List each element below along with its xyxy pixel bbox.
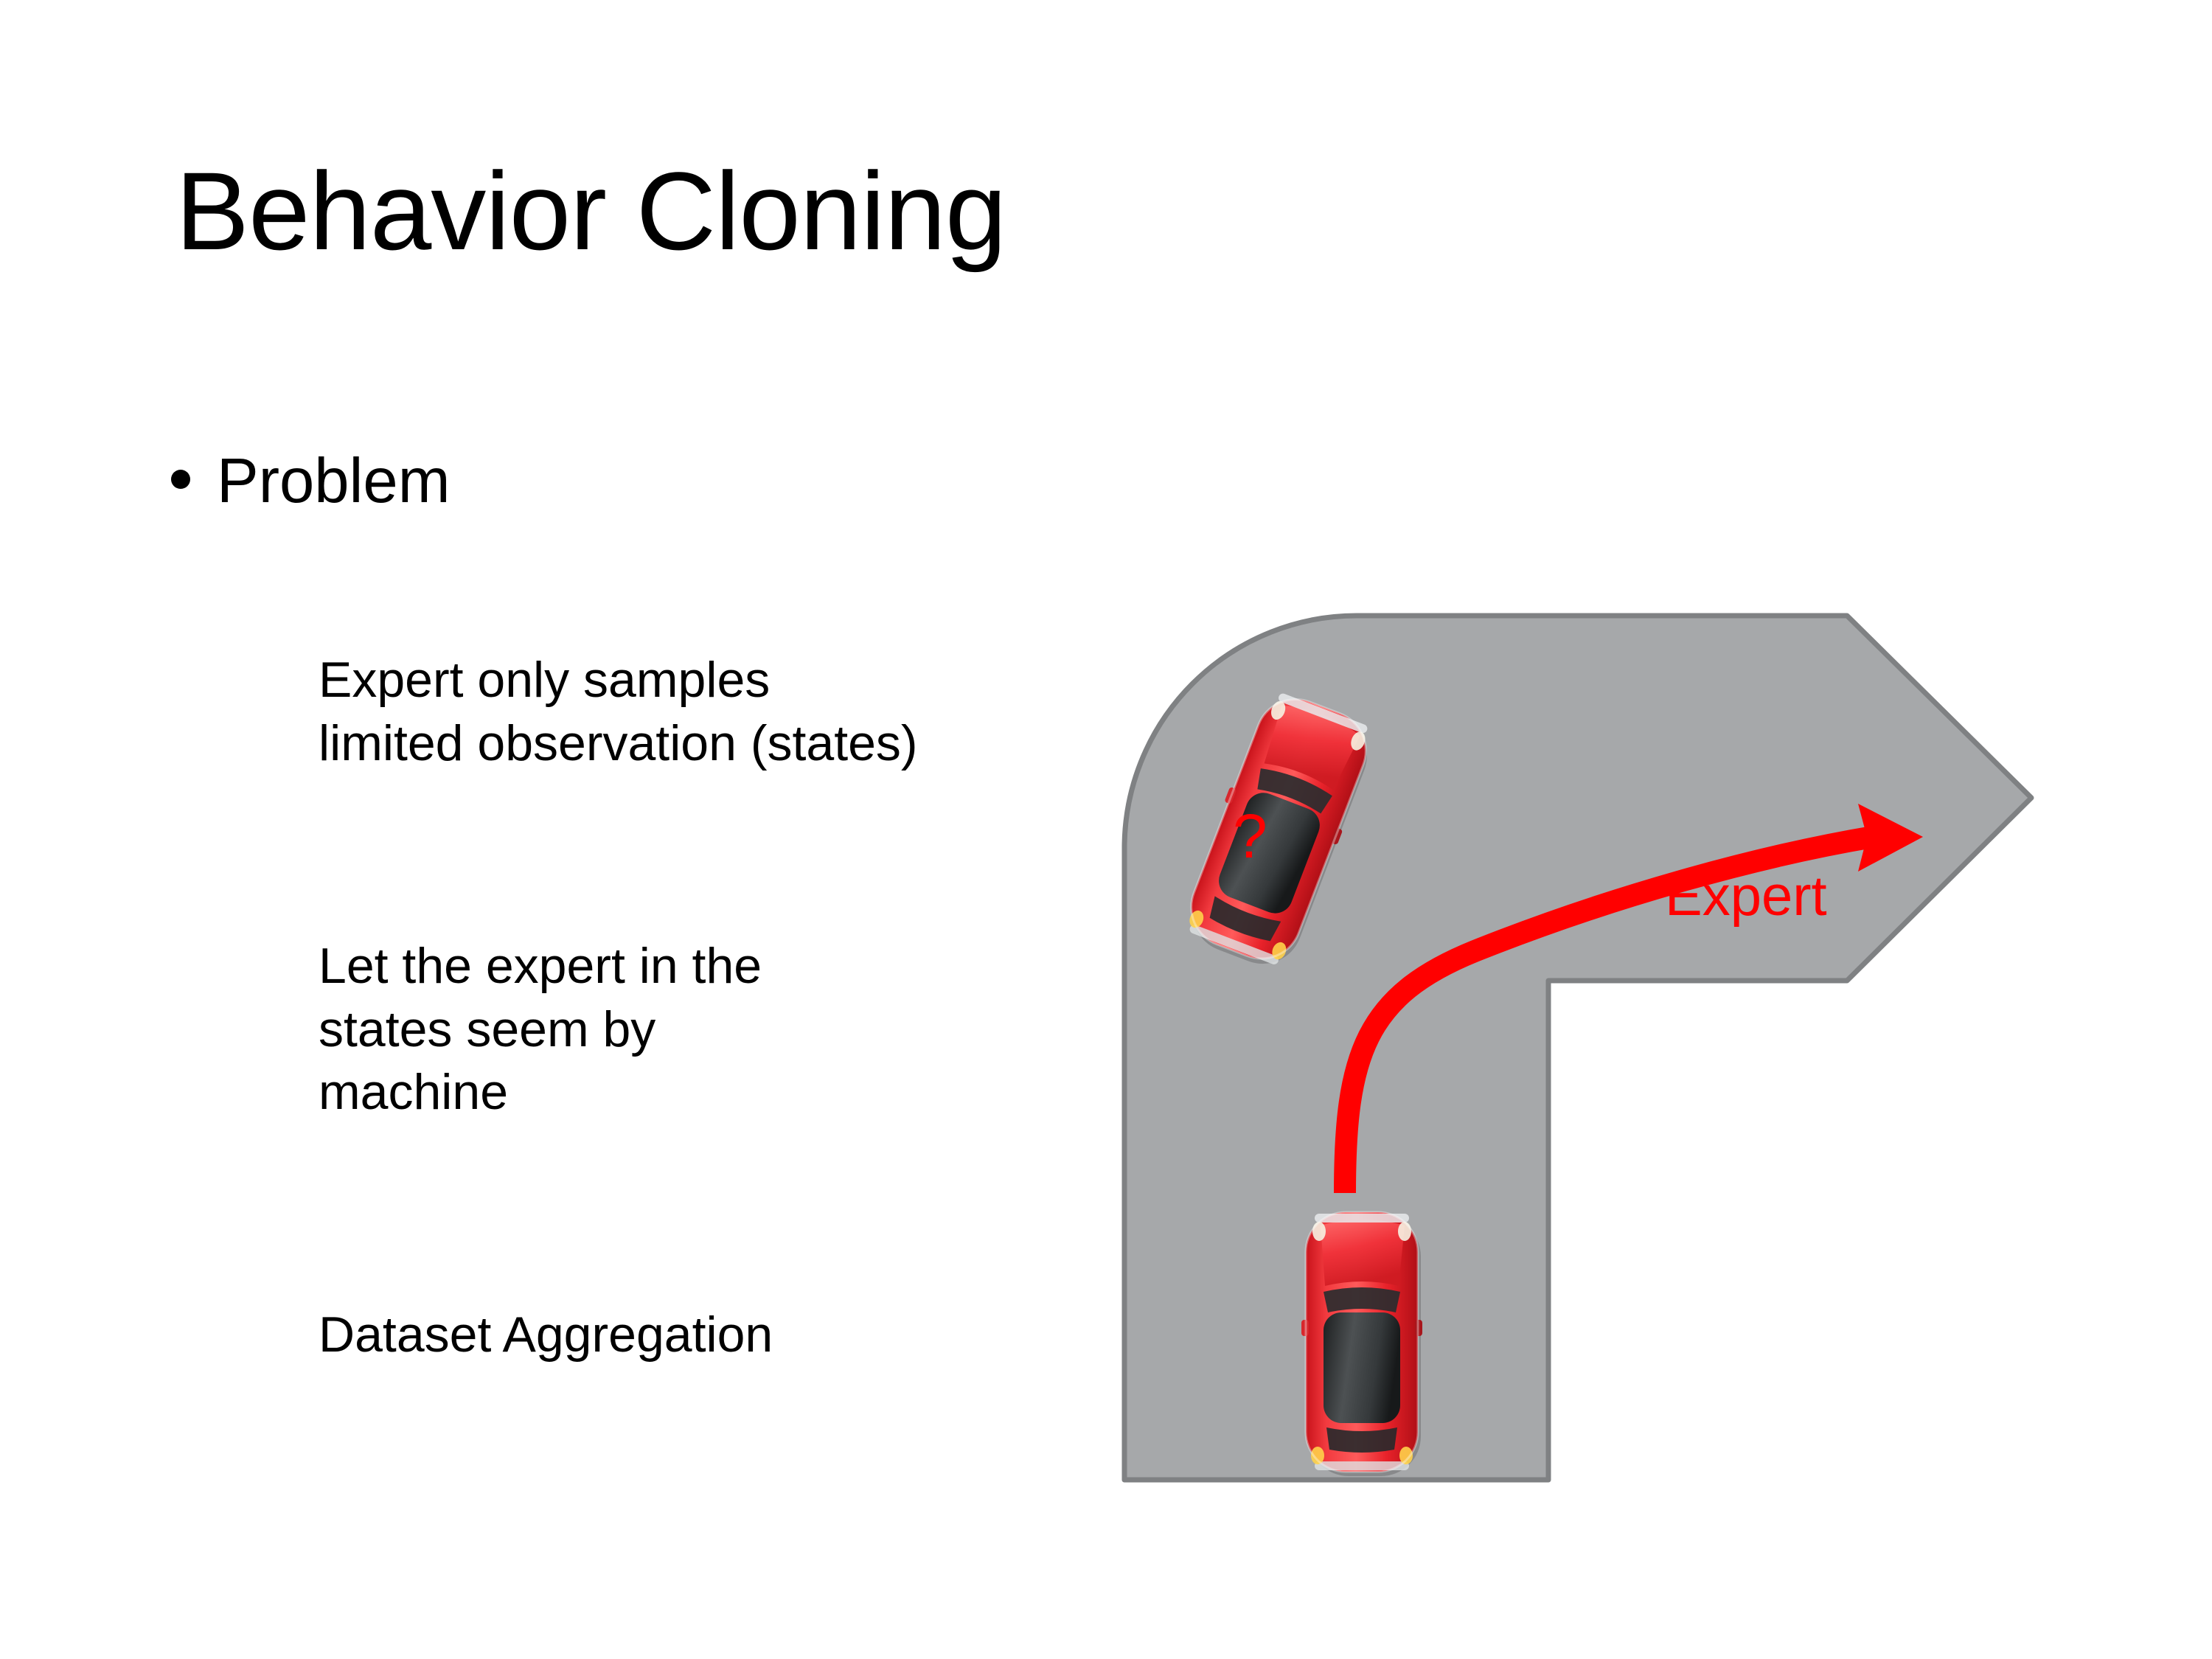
car-lower-start (1301, 1209, 1427, 1482)
bullet-dot-icon (171, 470, 190, 489)
page-title: Behavior Cloning (175, 153, 1006, 270)
expert-trajectory-label: Expert (1665, 869, 1827, 925)
bullet-item-problem: Problem (171, 450, 451, 512)
road-turn-diagram (1091, 582, 2065, 1512)
bullet-item-label: Problem (217, 450, 451, 512)
question-mark-annotation: ? (1233, 805, 1267, 867)
sub-point-let-expert: Let the expert in the states seem by mac… (319, 935, 1166, 1124)
car-icon (1301, 1209, 1427, 1482)
sub-point-dataset-aggregation: Dataset Aggregation (319, 1304, 1166, 1367)
slide-canvas: Behavior Cloning Problem Expert only sam… (0, 0, 2212, 1659)
sub-point-expert-samples: Expert only samples limited observation … (319, 649, 1166, 775)
road-shape-svg (1091, 582, 2065, 1512)
